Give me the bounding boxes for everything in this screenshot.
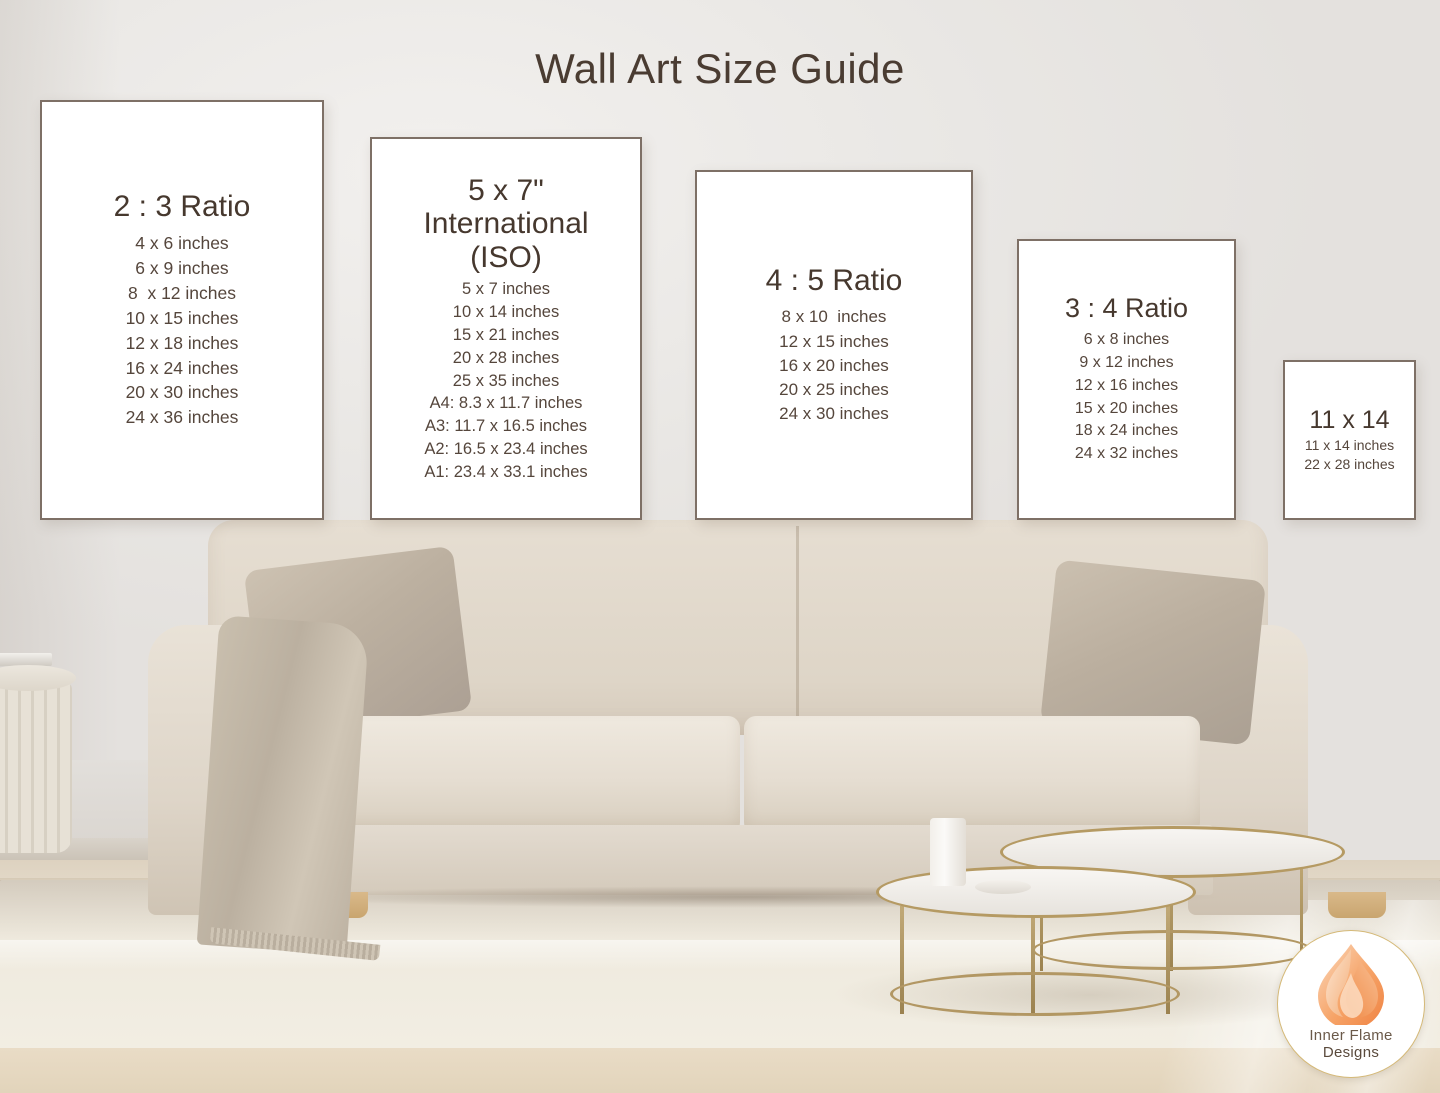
- size-frame-11x14[interactable]: 11 x 14 11 x 14 inches22 x 28 inches: [1283, 360, 1416, 520]
- frame-heading: 11 x 14: [1309, 406, 1389, 434]
- list-item: 18 x 24 inches: [1075, 420, 1178, 443]
- list-item: 12 x 16 inches: [1075, 375, 1178, 398]
- size-frame-iso-international[interactable]: 5 x 7"International(ISO) 5 x 7 inches10 …: [370, 137, 642, 520]
- list-item: 6 x 9 inches: [126, 256, 239, 281]
- logo-text-line2: Designs: [1323, 1044, 1379, 1061]
- list-item: 6 x 8 inches: [1075, 329, 1178, 352]
- list-item: 15 x 21 inches: [424, 324, 587, 347]
- frame-size-list: 8 x 10 inches12 x 15 inches16 x 20 inche…: [779, 305, 889, 426]
- frame-size-list: 4 x 6 inches6 x 9 inches8 x 12 inches10 …: [126, 231, 239, 430]
- page-title: Wall Art Size Guide: [0, 45, 1440, 93]
- list-item: 24 x 30 inches: [779, 402, 889, 426]
- logo-text-line1: Inner Flame: [1309, 1027, 1392, 1044]
- list-item: 8 x 12 inches: [126, 281, 239, 306]
- coffee-table-small: [876, 866, 1196, 1026]
- frame-heading: 5 x 7"International(ISO): [423, 174, 588, 275]
- decor-vase: [930, 818, 966, 886]
- size-frame-4-5-ratio[interactable]: 4 : 5 Ratio 8 x 10 inches12 x 15 inches1…: [695, 170, 973, 520]
- list-item: 9 x 12 inches: [1075, 352, 1178, 375]
- marble-top-small: [876, 866, 1196, 918]
- list-item: 20 x 30 inches: [126, 380, 239, 405]
- list-item: 8 x 10 inches: [779, 305, 889, 329]
- frame-size-list: 11 x 14 inches22 x 28 inches: [1304, 436, 1394, 475]
- frame-size-list: 6 x 8 inches9 x 12 inches12 x 16 inches1…: [1075, 329, 1178, 465]
- list-item: 4 x 6 inches: [126, 231, 239, 256]
- list-item: International: [423, 207, 588, 241]
- list-item: 15 x 20 inches: [1075, 398, 1178, 421]
- frame-heading: 3 : 4 Ratio: [1065, 293, 1188, 323]
- decor-tray: [975, 880, 1031, 894]
- frame-size-list: 5 x 7 inches10 x 14 inches15 x 21 inches…: [424, 278, 587, 483]
- list-item: 12 x 15 inches: [779, 330, 889, 354]
- size-frame-2-3-ratio[interactable]: 2 : 3 Ratio 4 x 6 inches6 x 9 inches8 x …: [40, 100, 324, 520]
- list-item: 12 x 18 inches: [126, 331, 239, 356]
- list-item: 5 x 7": [423, 174, 588, 208]
- list-item: 5 x 7 inches: [424, 278, 587, 301]
- side-table-base: [0, 683, 72, 853]
- list-item: 10 x 15 inches: [126, 306, 239, 331]
- list-item: 24 x 36 inches: [126, 405, 239, 430]
- sofa-cushion-right: [744, 716, 1200, 834]
- list-item: A2: 16.5 x 23.4 inches: [424, 438, 587, 461]
- list-item: 11 x 14 inches: [1304, 436, 1394, 455]
- list-item: A3: 11.7 x 16.5 inches: [424, 415, 587, 438]
- list-item: 16 x 20 inches: [779, 354, 889, 378]
- list-item: 22 x 28 inches: [1304, 455, 1394, 474]
- list-item: 20 x 25 inches: [779, 378, 889, 402]
- list-item: (ISO): [423, 241, 588, 275]
- flame-icon: [1312, 943, 1390, 1025]
- throw-blanket: [197, 615, 370, 955]
- list-item: 25 x 35 inches: [424, 370, 587, 393]
- list-item: A1: 23.4 x 33.1 inches: [424, 461, 587, 484]
- list-item: 24 x 32 inches: [1075, 443, 1178, 466]
- frame-heading: 4 : 5 Ratio: [766, 264, 903, 298]
- list-item: A4: 8.3 x 11.7 inches: [424, 392, 587, 415]
- list-item: 20 x 28 inches: [424, 347, 587, 370]
- side-table: [0, 665, 80, 865]
- size-frame-3-4-ratio[interactable]: 3 : 4 Ratio 6 x 8 inches9 x 12 inches12 …: [1017, 239, 1236, 520]
- brand-logo[interactable]: Inner Flame Designs: [1277, 930, 1425, 1078]
- frame-heading: 2 : 3 Ratio: [114, 190, 251, 224]
- list-item: 16 x 24 inches: [126, 356, 239, 381]
- list-item: 10 x 14 inches: [424, 301, 587, 324]
- sofa-seam: [796, 526, 799, 726]
